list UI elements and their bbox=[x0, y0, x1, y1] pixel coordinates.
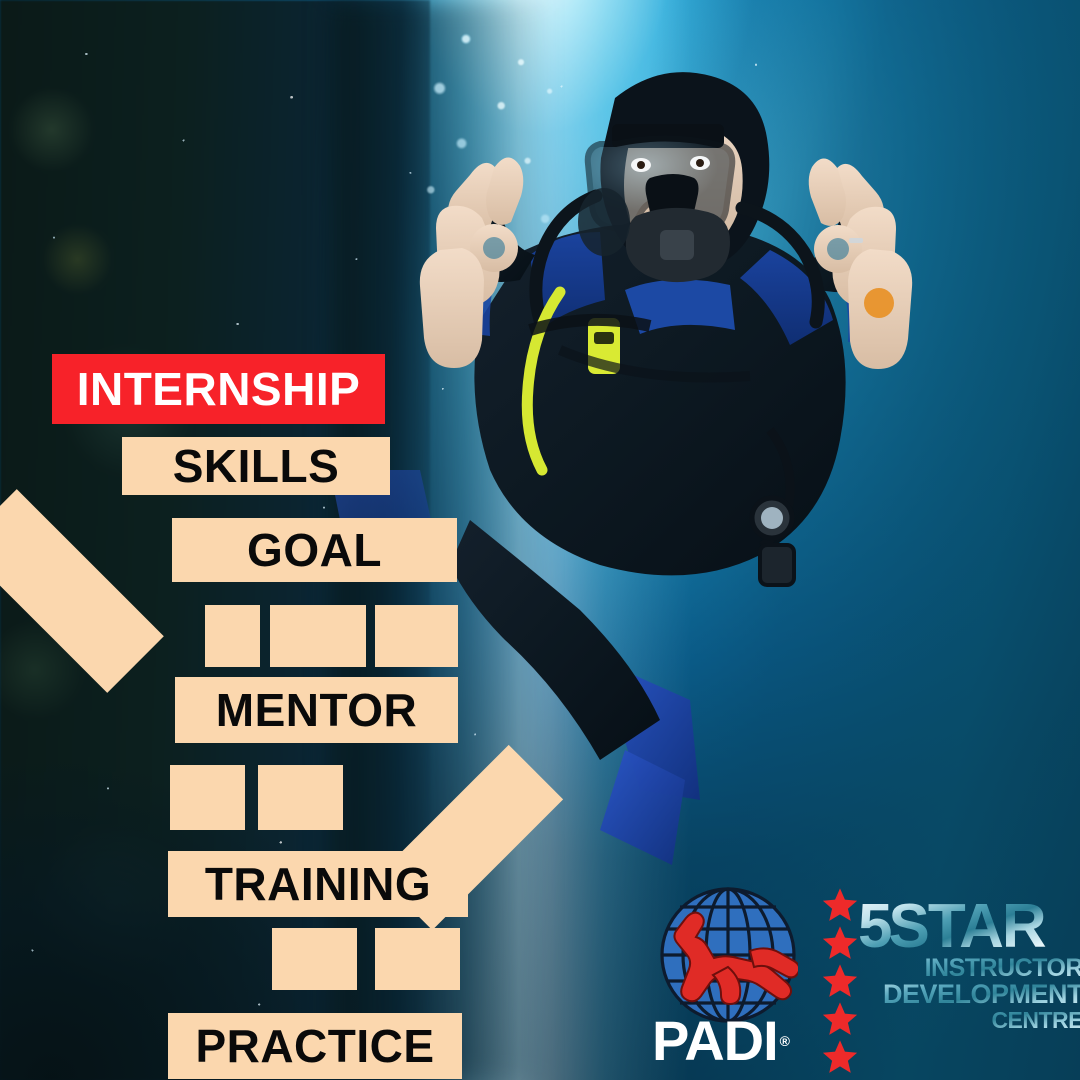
crossword-empty-cell bbox=[375, 928, 460, 990]
star-icon bbox=[818, 886, 862, 924]
registered-trademark-icon: ® bbox=[780, 1010, 789, 1072]
idc-title-block: 5STAR INSTRUCTOR DEVELOPMENT CENTRE bbox=[858, 898, 1080, 1048]
crossword-word-training: TRAINING bbox=[168, 851, 468, 917]
star-icon bbox=[818, 962, 862, 1000]
crossword-word-internship: INTERNSHIP bbox=[52, 354, 385, 424]
five-star-headline: 5STAR bbox=[858, 898, 1080, 956]
padi-wordmark: PADI® bbox=[652, 1010, 807, 1072]
padi-globe-diver-icon bbox=[658, 885, 798, 1025]
crossword-word-mentor: MENTOR bbox=[175, 677, 458, 743]
crossword-empty-cell bbox=[258, 765, 343, 830]
crossword-word-skills: SKILLS bbox=[122, 437, 390, 495]
crossword-empty-cell bbox=[205, 605, 260, 667]
star-icon bbox=[818, 1000, 862, 1038]
padi-5-star-idc-logo: PADI® 5STAR INSTRUCTOR DEVELOPMENT CENTR… bbox=[650, 880, 1080, 1080]
crossword-empty-cell bbox=[170, 765, 245, 830]
crossword-word-goal: GOAL bbox=[172, 518, 457, 582]
crossword-empty-cell bbox=[270, 605, 366, 667]
star-word: STAR bbox=[888, 892, 1044, 961]
crossword-empty-cell bbox=[375, 605, 458, 667]
star-icon bbox=[818, 1038, 862, 1076]
star-icon bbox=[818, 924, 862, 962]
crossword-word-practice: PRACTICE bbox=[168, 1013, 462, 1079]
idc-development-line: DEVELOPMENT bbox=[858, 981, 1080, 1008]
five-digit: 5 bbox=[858, 892, 888, 961]
crossword-empty-cell bbox=[272, 928, 357, 990]
idc-centre-line: CENTRE bbox=[858, 1008, 1080, 1032]
poster-canvas: INTERNSHIPSKILLSGOALMENTORTRAININGPRACTI… bbox=[0, 0, 1080, 1080]
bubble-cluster bbox=[400, 10, 620, 300]
padi-wordmark-text: PADI bbox=[652, 1010, 778, 1072]
